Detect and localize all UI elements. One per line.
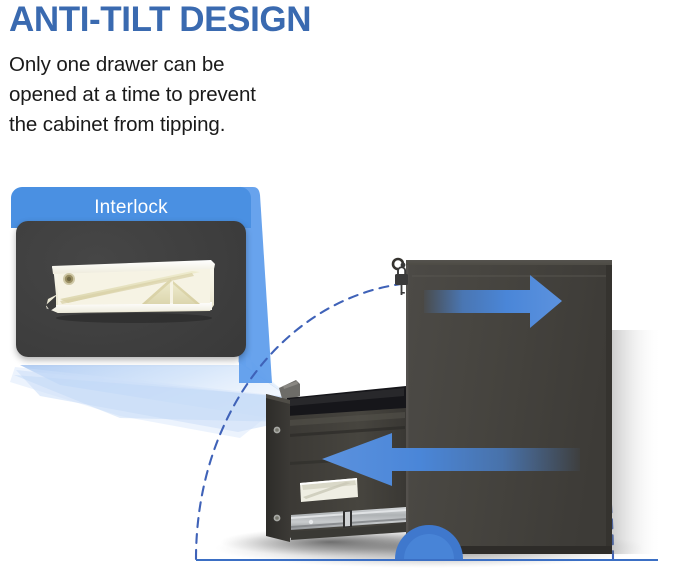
description-line-3: the cabinet from tipping. — [9, 110, 369, 140]
cabinet-side-glow — [612, 330, 662, 554]
lock-icon — [393, 259, 408, 295]
page-title: ANTI-TILT DESIGN — [9, 0, 311, 42]
description-text: Only one drawer can be opened at a time … — [9, 50, 369, 140]
infographic-page: ANTI-TILT DESIGN Only one drawer can be … — [0, 0, 679, 570]
description-line-1: Only one drawer can be — [9, 50, 369, 80]
floor-baseline — [196, 559, 658, 561]
cabinet-illustration — [0, 170, 679, 570]
description-line-2: opened at a time to prevent — [9, 80, 369, 110]
